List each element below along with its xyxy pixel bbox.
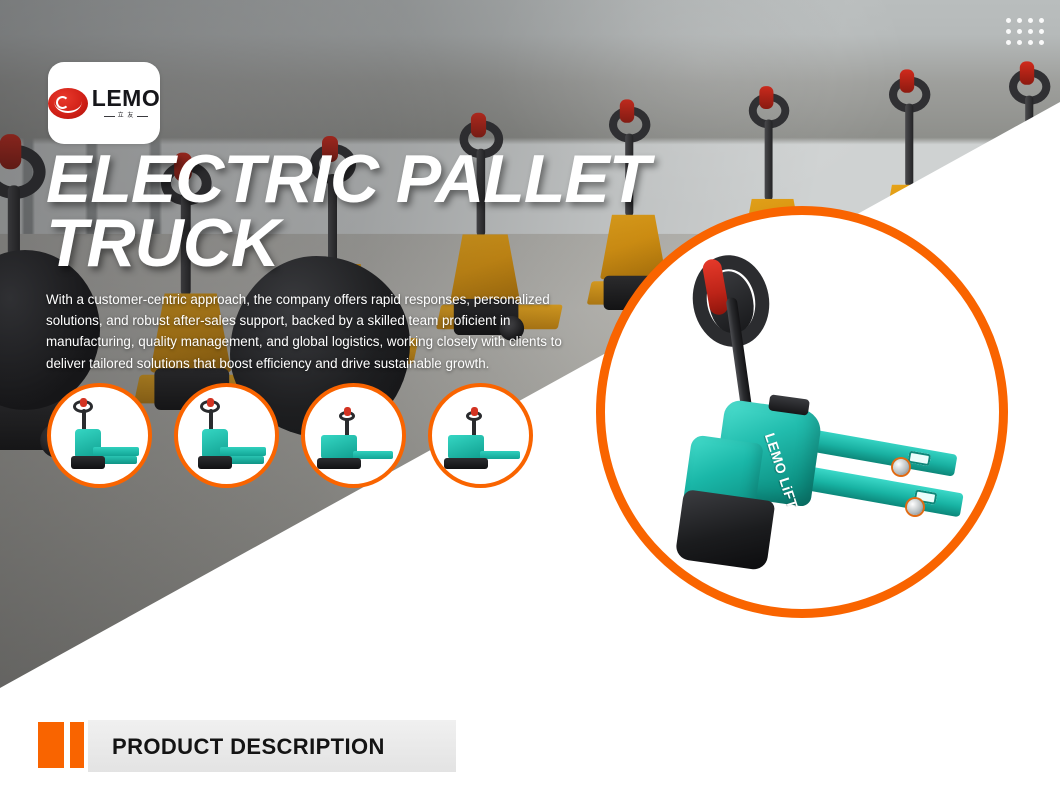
pallet-truck-illustration — [61, 403, 139, 469]
section-title: PRODUCT DESCRIPTION — [112, 734, 385, 760]
brand-logo-text: LEMO 立 友 — [92, 87, 160, 119]
band-orange-block-narrow — [70, 722, 84, 768]
electric-pallet-truck-hero-photo[interactable]: LEMO LiFT — [596, 206, 1008, 618]
brand-logo: LEMO 立 友 — [48, 62, 160, 144]
pallet-truck-illustration: LEMO LiFT — [657, 263, 957, 573]
thumb-stand-on-pallet-truck[interactable] — [301, 383, 406, 488]
thumb-walkie-pallet-truck[interactable] — [47, 383, 152, 488]
brand-logo-sub-chars: 立 友 — [118, 113, 135, 119]
thumb-semi-electric-truck[interactable] — [174, 383, 279, 488]
band-orange-block-wide — [38, 722, 64, 768]
product-banner-page: LEMO 立 友 ELECTRIC PALLET TRUCK With a cu… — [0, 0, 1060, 807]
brand-logo-subtext: 立 友 — [104, 113, 149, 119]
product-description-band: PRODUCT DESCRIPTION — [0, 712, 1060, 794]
page-title: ELECTRIC PALLET TRUCK — [46, 148, 706, 276]
hero-description: With a customer-centric approach, the co… — [46, 289, 586, 374]
lemo-oval-mark-icon — [48, 88, 88, 119]
thumb-rider-pallet-truck[interactable] — [428, 383, 533, 488]
thumbnail-gallery — [47, 383, 533, 488]
pallet-truck-illustration — [442, 403, 520, 469]
brand-logo-word: LEMO — [92, 87, 160, 110]
pallet-truck-illustration — [188, 403, 266, 469]
dot-grid-icon — [1006, 18, 1050, 51]
pallet-truck-illustration — [315, 403, 393, 469]
